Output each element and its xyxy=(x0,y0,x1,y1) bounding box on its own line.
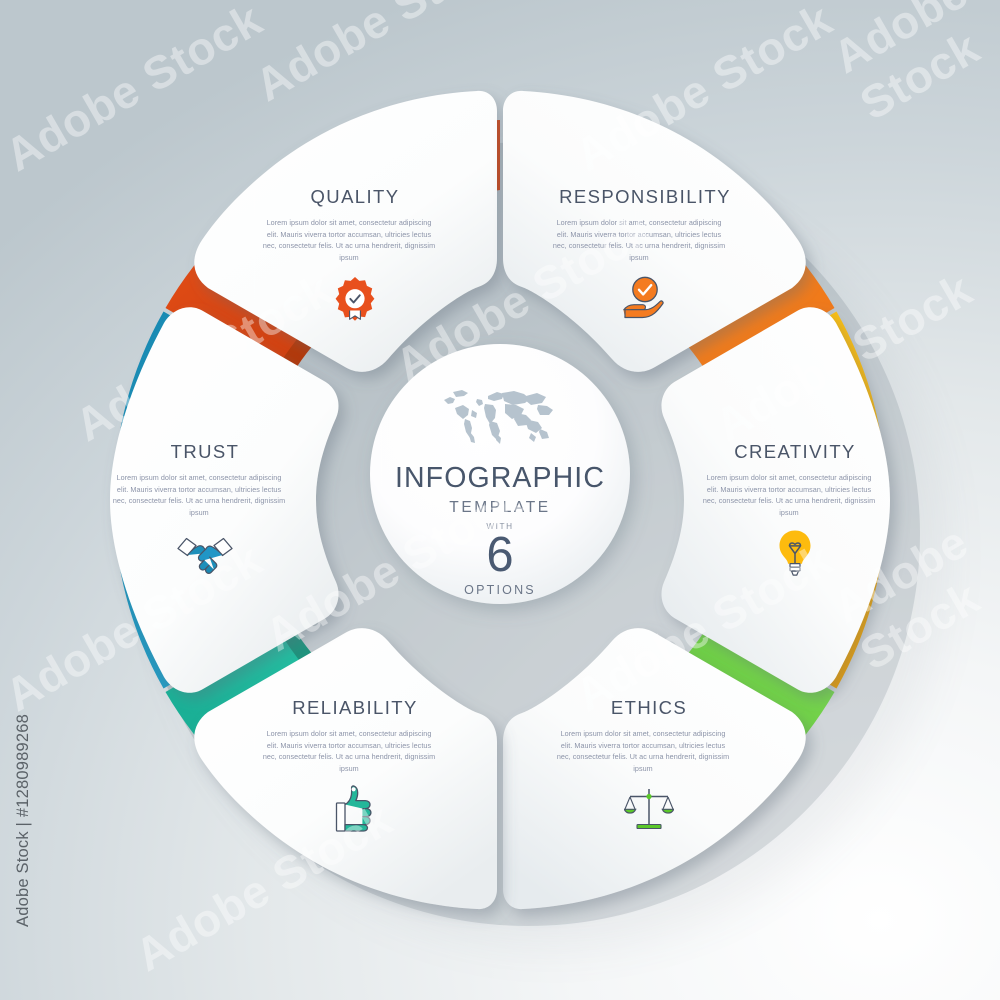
center-hub-circle[interactable] xyxy=(370,344,630,604)
credit-text: Adobe Stock | #1280989268 xyxy=(14,714,33,927)
six-option-circular-diagram xyxy=(0,0,1000,1000)
credit-line: Adobe Stock | #1280989268 xyxy=(0,580,46,1000)
infographic-canvas: QUALITY Lorem ipsum dolor sit amet, cons… xyxy=(0,0,1000,1000)
